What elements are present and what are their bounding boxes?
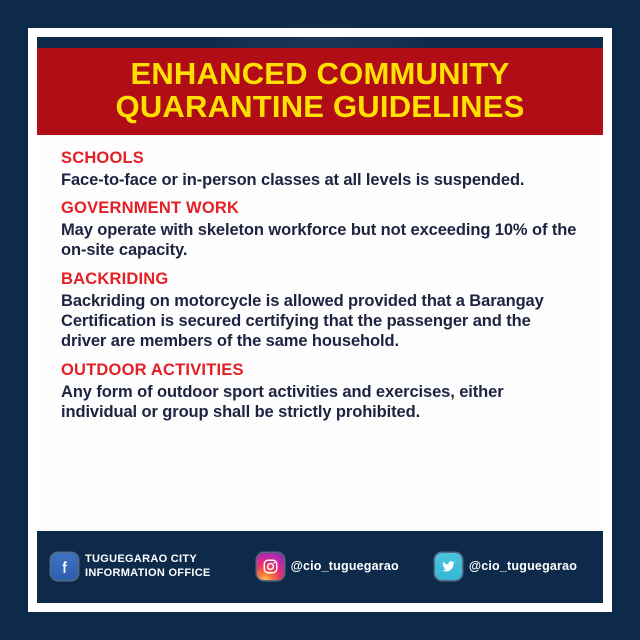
section-outdoor-activities: OUTDOOR ACTIVITIES Any form of outdoor s… [61, 361, 579, 423]
poster: CARD ENHANCED COMMUNITY QUARANTINE GUIDE… [0, 0, 640, 640]
instagram-icon[interactable] [257, 553, 284, 580]
social-label: @cio_tuguegarao [291, 559, 399, 575]
twitter-icon[interactable] [435, 553, 462, 580]
title-line-1: ENHANCED COMMUNITY [43, 57, 597, 90]
section-backriding: BACKRIDING Backriding on motorcycle is a… [61, 270, 579, 352]
social-instagram[interactable]: @cio_tuguegarao [257, 553, 399, 580]
facebook-icon[interactable] [51, 553, 78, 580]
social-twitter[interactable]: @cio_tuguegarao [435, 553, 577, 580]
section-schools: SCHOOLS Face-to-face or in-person classe… [61, 149, 579, 190]
social-label: @cio_tuguegarao [469, 559, 577, 575]
section-heading: GOVERNMENT WORK [61, 199, 579, 218]
section-government-work: GOVERNMENT WORK May operate with skeleto… [61, 199, 579, 261]
white-frame-border: ENHANCED COMMUNITY QUARANTINE GUIDELINES… [28, 28, 612, 612]
social-label: TUGUEGARAO CITY INFORMATION OFFICE [85, 553, 211, 581]
section-body: Backriding on motorcycle is allowed prov… [61, 291, 579, 352]
social-facebook[interactable]: TUGUEGARAO CITY INFORMATION OFFICE [51, 553, 211, 581]
title-banner: ENHANCED COMMUNITY QUARANTINE GUIDELINES [37, 48, 603, 135]
section-body: Any form of outdoor sport activities and… [61, 382, 579, 423]
section-heading: SCHOOLS [61, 149, 579, 168]
section-body: May operate with skeleton workforce but … [61, 220, 579, 261]
poster-card: ENHANCED COMMUNITY QUARANTINE GUIDELINES… [37, 37, 603, 603]
title-line-2: QUARANTINE GUIDELINES [43, 90, 597, 123]
footer-social-bar: TUGUEGARAO CITY INFORMATION OFFICE @cio_… [37, 531, 603, 603]
guidelines-panel: SCHOOLS Face-to-face or in-person classe… [37, 135, 603, 531]
section-body: Face-to-face or in-person classes at all… [61, 170, 579, 190]
section-heading: BACKRIDING [61, 270, 579, 289]
section-heading: OUTDOOR ACTIVITIES [61, 361, 579, 380]
